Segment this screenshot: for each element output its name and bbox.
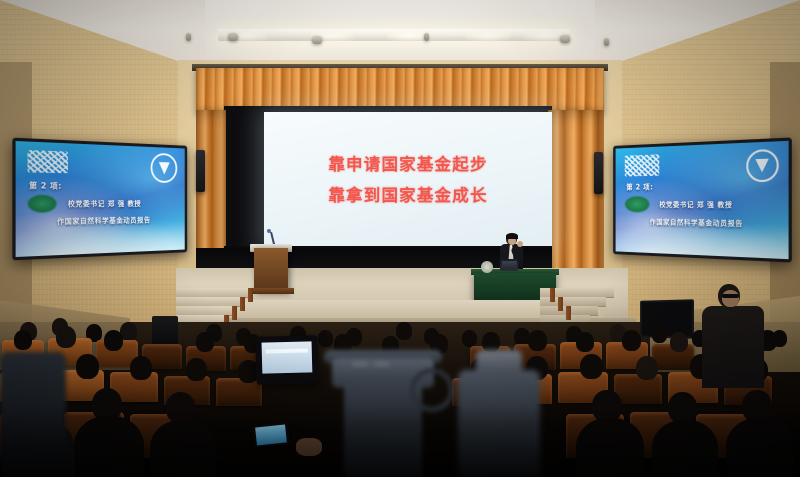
calligraphy-logo-icon <box>625 154 660 176</box>
slide-item-number: 第 2 项: <box>626 182 653 193</box>
slide-item-number: 第 2 项: <box>29 179 62 191</box>
spotlight-fixture-icon <box>604 38 609 46</box>
green-accent-shape <box>625 196 650 213</box>
lectern <box>254 248 288 292</box>
screen-line-1: 靠申请国家基金起步 <box>328 149 487 180</box>
smartphone-device[interactable] <box>252 422 290 448</box>
green-accent-shape <box>27 194 57 212</box>
floor-loudspeaker <box>152 316 178 346</box>
foreground-equipment-left <box>0 352 66 477</box>
spotlight-fixture-icon <box>186 33 191 41</box>
university-emblem-icon <box>151 153 177 183</box>
spotlight-fixture-icon <box>312 36 322 44</box>
laptop-icon <box>500 259 518 271</box>
right-display-screen: 第 2 项: 校党委书记 郑 强 教授 作国家自然科学基金动员报告 <box>616 141 789 259</box>
university-emblem-icon <box>746 148 779 182</box>
wall-loudspeaker-left <box>196 150 205 192</box>
spotlight-fixture-icon <box>424 33 429 41</box>
main-projection-screen: 靠申请国家基金起步 靠拿到国家基金成长 <box>264 112 552 248</box>
house-monitor <box>640 299 694 339</box>
phone-screen <box>255 424 287 445</box>
spotlight-fixture-icon <box>228 33 238 41</box>
slide-line-1: 校党委书记 郑 强 教授 <box>659 200 732 210</box>
slide-line-1: 校党委书记 郑 强 教授 <box>68 199 141 209</box>
left-display-screen: 第 2 项: 校党委书记 郑 强 教授 作国家自然科学基金动员报告 <box>16 141 185 257</box>
standing-attendee <box>702 284 766 388</box>
left-wall-display[interactable]: 第 2 项: 校党委书记 郑 强 教授 作国家自然科学基金动员报告 <box>12 138 187 261</box>
tablet-device[interactable] <box>255 335 318 385</box>
wall-loudspeaker-right <box>594 152 603 194</box>
table-flowers <box>481 261 493 273</box>
tablet-screen <box>262 341 313 373</box>
video-camera-secondary <box>440 340 560 477</box>
video-camera <box>318 344 448 477</box>
right-wall-display[interactable]: 第 2 项: 校党委书记 郑 强 教授 作国家自然科学基金动员报告 <box>613 137 792 262</box>
ceiling-light-strip <box>218 29 570 41</box>
calligraphy-logo-icon <box>27 150 68 174</box>
spotlight-fixture-icon <box>560 35 570 43</box>
auditorium-scene: 靠申请国家基金起步 靠拿到国家基金成长 第 2 项: 校党委书记 郑 强 教授 … <box>0 0 800 477</box>
screen-line-2: 靠拿到国家基金成长 <box>328 180 487 211</box>
eyeglasses-icon <box>722 294 739 298</box>
microphone-head-icon <box>267 229 271 233</box>
